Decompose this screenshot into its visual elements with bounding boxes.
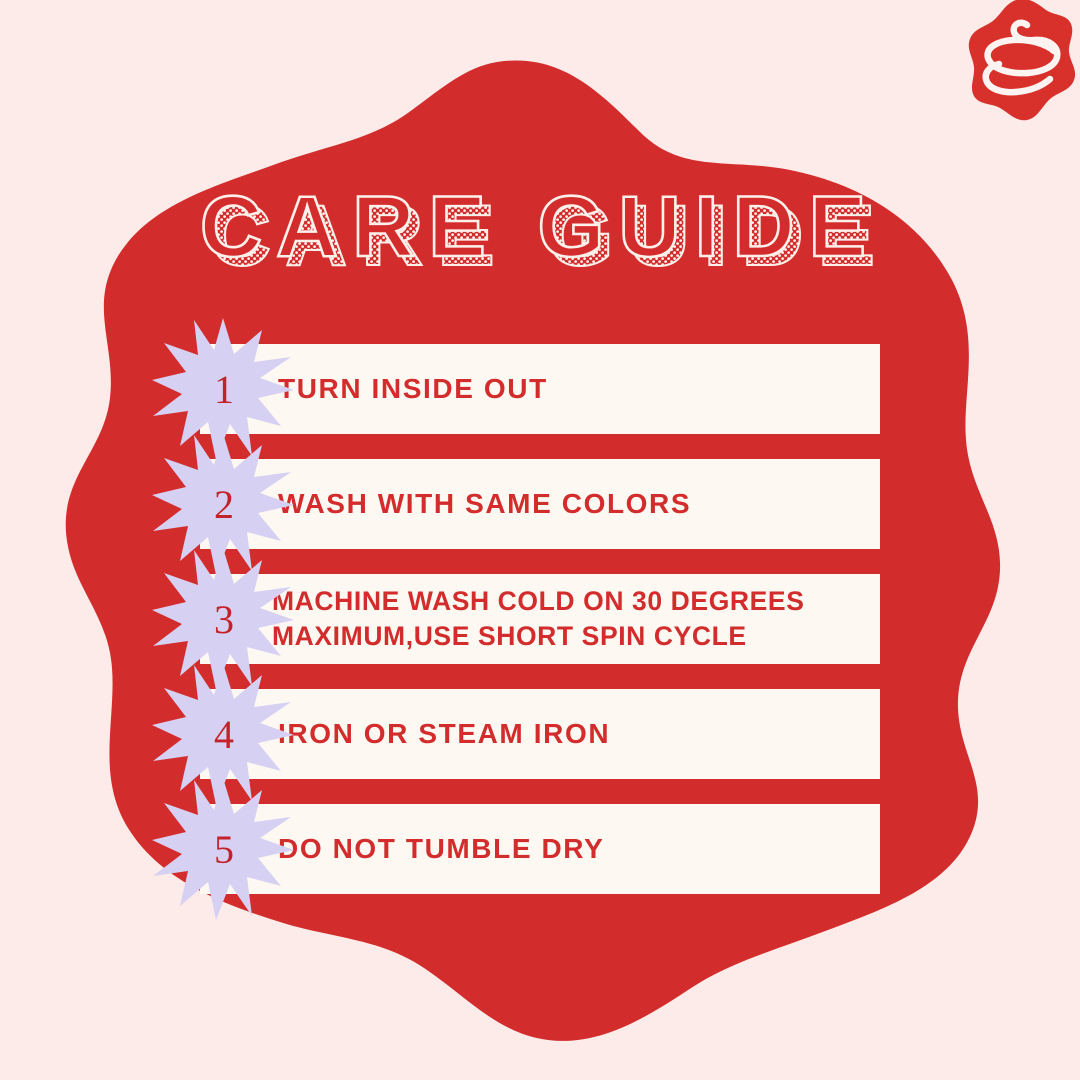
brand-seal-logo[interactable]: [958, 0, 1078, 129]
step-badge: 5: [150, 776, 296, 922]
step-line: IRON OR STEAM IRON: [278, 715, 878, 752]
step-text: MACHINE WASH COLD ON 30 DEGREES MAXIMUM,…: [272, 574, 872, 664]
list-item: WASH WITH SAME COLORS 2: [0, 459, 1080, 549]
list-item: IRON OR STEAM IRON 4: [0, 689, 1080, 779]
list-item: TURN INSIDE OUT 1: [0, 344, 1080, 434]
step-line: TURN INSIDE OUT: [278, 370, 878, 407]
step-line: MAXIMUM,USE SHORT SPIN CYCLE: [272, 619, 872, 654]
list-item: MACHINE WASH COLD ON 30 DEGREES MAXIMUM,…: [0, 574, 1080, 664]
list-item: DO NOT TUMBLE DRY 5: [0, 804, 1080, 894]
step-line: MACHINE WASH COLD ON 30 DEGREES: [272, 584, 872, 619]
step-text: TURN INSIDE OUT: [278, 344, 878, 434]
step-text: DO NOT TUMBLE DRY: [278, 804, 878, 894]
step-number: 5: [150, 776, 296, 922]
step-text: WASH WITH SAME COLORS: [278, 459, 878, 549]
step-line: DO NOT TUMBLE DRY: [278, 830, 878, 867]
step-line: WASH WITH SAME COLORS: [278, 485, 878, 522]
care-guide-poster: CARE GUIDE CARE GUIDE TURN INSIDE OUT 1 …: [0, 0, 1080, 1080]
care-steps-list: TURN INSIDE OUT 1 WASH WITH SAME COLORS …: [0, 344, 1080, 919]
step-text: IRON OR STEAM IRON: [278, 689, 878, 779]
